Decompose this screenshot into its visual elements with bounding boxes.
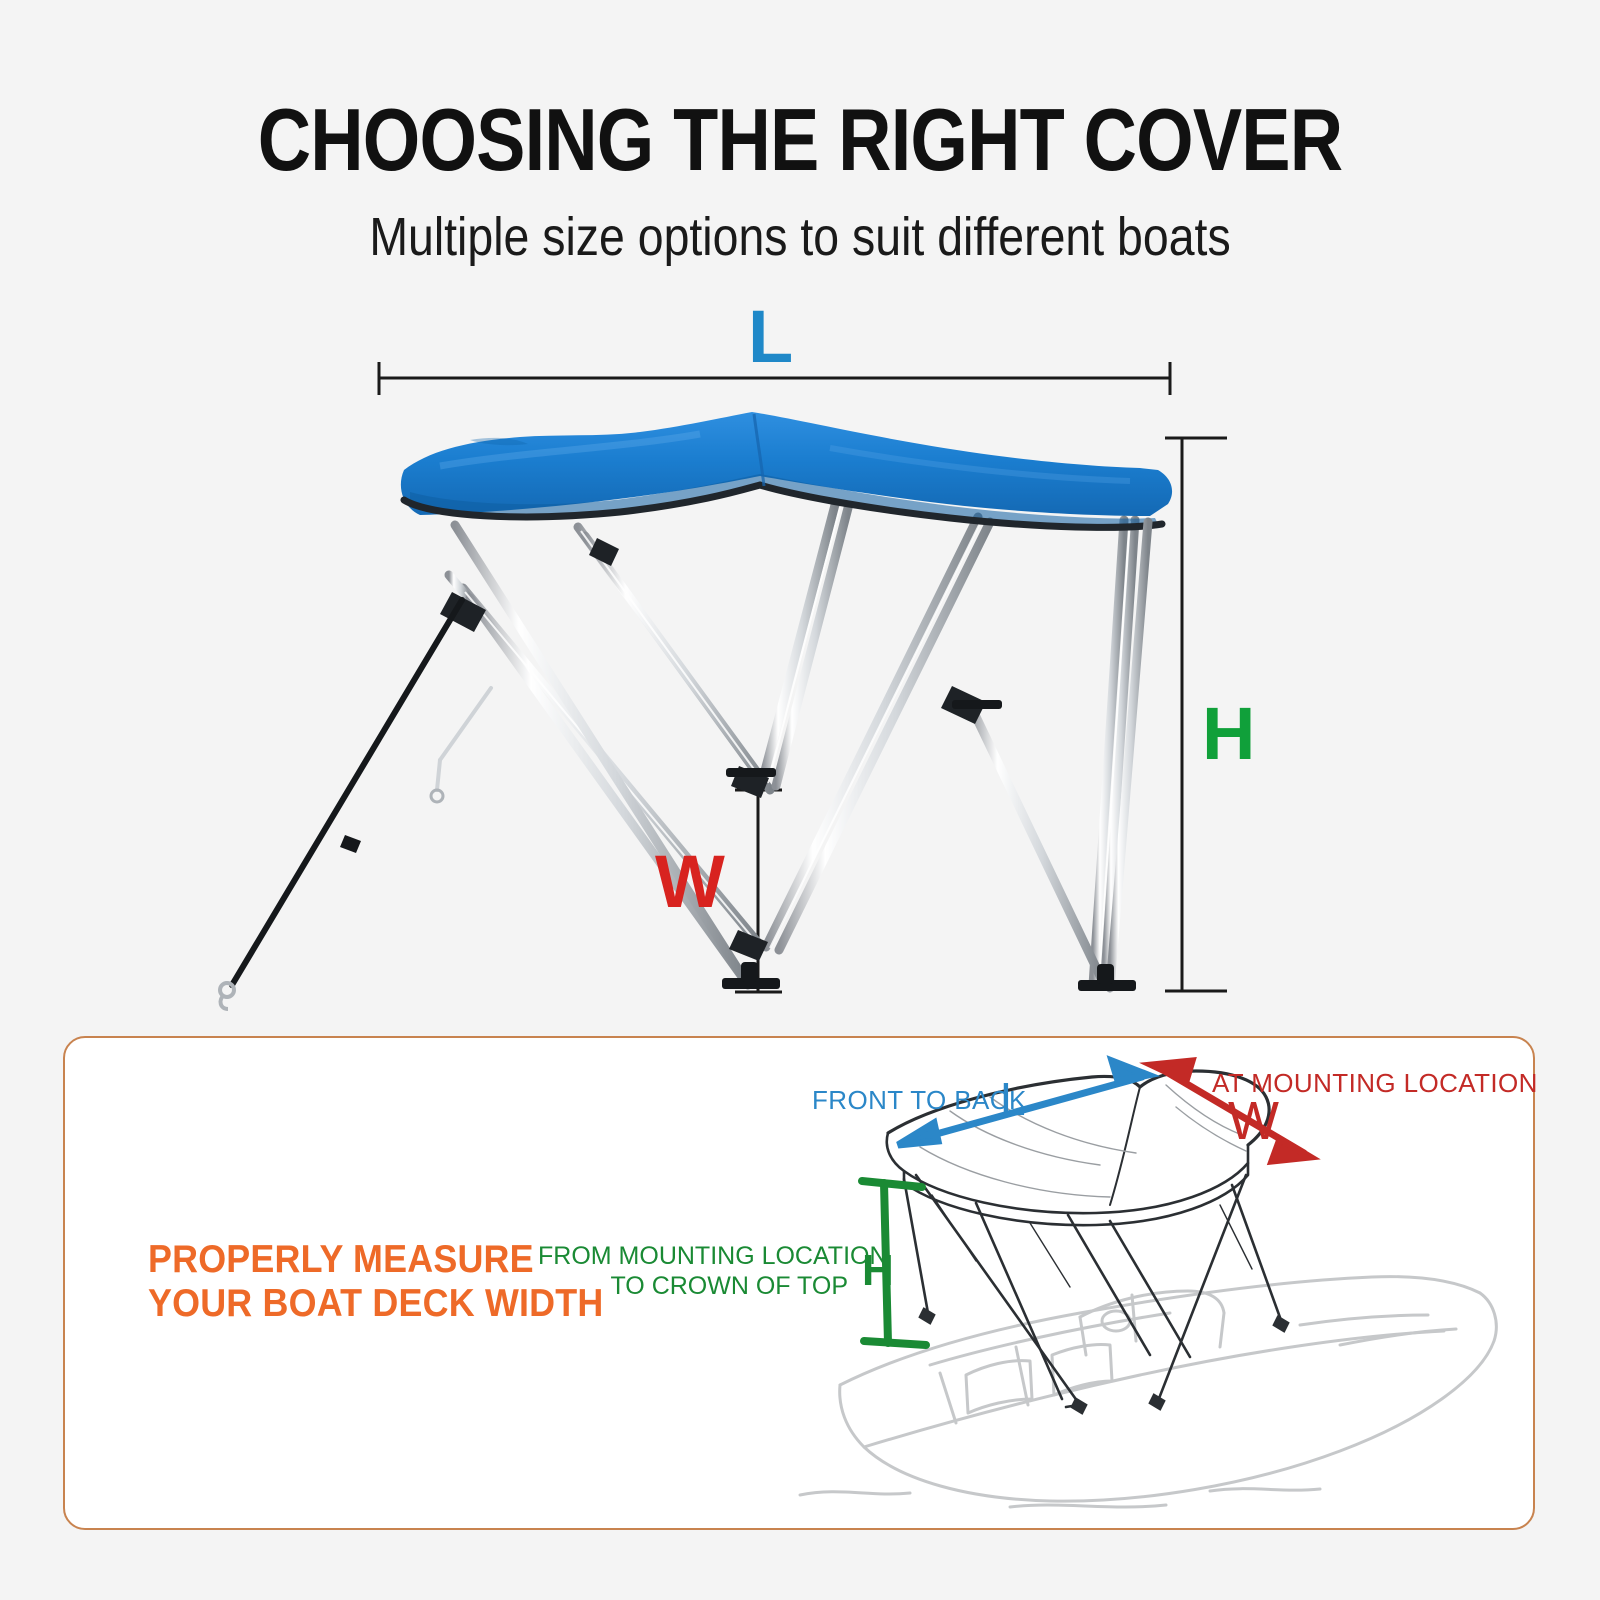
promo-line-2: YOUR BOAT DECK WIDTH xyxy=(148,1282,544,1326)
secondary-strap xyxy=(431,688,491,802)
deck-mount-foot xyxy=(1078,964,1136,991)
product-illustration: L H W xyxy=(0,0,1600,1030)
height-caption-line-1: FROM MOUNTING LOCATION xyxy=(538,1242,848,1272)
promo-text: PROPERLY MEASURE YOUR BOAT DECK WIDTH xyxy=(148,1238,544,1326)
boat-hull xyxy=(800,1277,1496,1507)
panel-width-label: W xyxy=(1228,1090,1279,1152)
width-dimension-line xyxy=(735,790,782,992)
frame-front-poles xyxy=(455,522,1148,988)
bimini-top-drawing xyxy=(0,0,1600,1030)
height-caption: FROM MOUNTING LOCATION TO CROWN OF TOP xyxy=(538,1242,848,1301)
length-label: L xyxy=(748,300,793,374)
promo-line-1: PROPERLY MEASURE xyxy=(148,1238,544,1282)
canopy xyxy=(401,412,1172,529)
deck-mount-foot xyxy=(952,700,1002,709)
panel-height-label: H xyxy=(862,1246,894,1296)
support-strap xyxy=(220,600,462,1009)
bimini-frame-sketch xyxy=(904,1175,1288,1413)
panel-length-label: L xyxy=(1000,1072,1026,1126)
frame-poles xyxy=(449,505,1135,985)
height-caption-line-2: TO CROWN OF TOP xyxy=(538,1272,848,1302)
boat-sketch-diagram xyxy=(780,1055,1560,1525)
width-label: W xyxy=(655,845,725,919)
infographic-page: CHOOSING THE RIGHT COVER Multiple size o… xyxy=(0,0,1600,1600)
length-caption: FRONT TO BACK xyxy=(812,1085,1027,1116)
height-label: H xyxy=(1202,697,1255,771)
deck-mount-foot xyxy=(726,768,776,777)
